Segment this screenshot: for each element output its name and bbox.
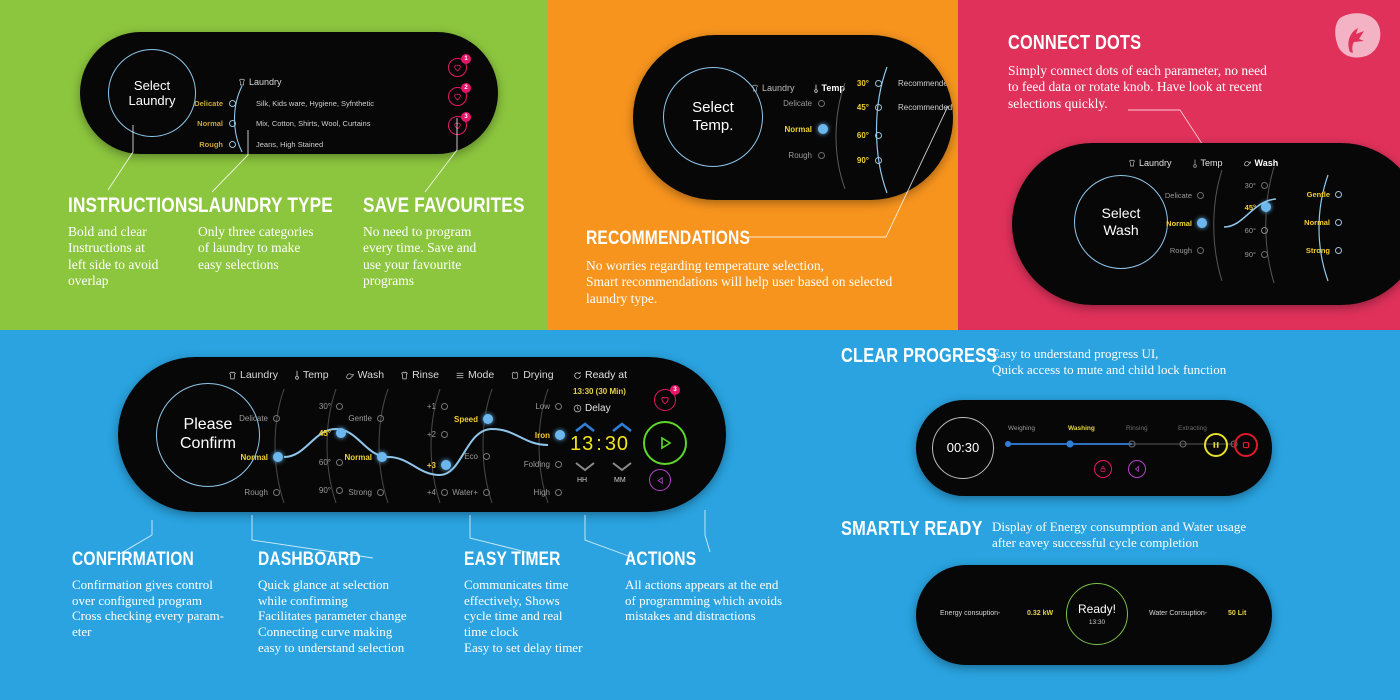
label: Normal xyxy=(226,453,268,462)
play-button[interactable] xyxy=(643,421,687,465)
child-lock-button[interactable] xyxy=(1094,460,1112,478)
dot[interactable] xyxy=(273,452,283,462)
main-temp-30[interactable]: 30° xyxy=(313,402,343,411)
device-ready[interactable]: Energy consuption- 0.32 kW Ready! 13:30 … xyxy=(916,565,1272,665)
label: 90° xyxy=(851,156,869,165)
device-select-temp[interactable]: Laundry Temp Select Temp. Delicate xyxy=(633,35,953,200)
label: Folding xyxy=(518,460,550,469)
label: +2 xyxy=(418,430,436,439)
main-mode-eco[interactable]: Eco xyxy=(440,452,490,461)
rinse-icon xyxy=(400,371,409,380)
label: Normal xyxy=(336,453,372,462)
main-wash-normal[interactable]: Normal xyxy=(336,452,387,462)
progress-step-2-label: Rinsing xyxy=(1126,425,1148,432)
label: Delicate xyxy=(1152,191,1192,200)
label: +1 xyxy=(418,402,436,411)
caption-actions-head: ACTIONS xyxy=(625,549,773,571)
main-wash-gentle[interactable]: Gentle xyxy=(336,414,384,423)
dot[interactable] xyxy=(1335,191,1342,198)
wash-option-strong[interactable]: Strong xyxy=(1296,246,1342,255)
refresh-icon xyxy=(573,371,582,380)
stop-button[interactable] xyxy=(1234,433,1258,457)
label: Water+ xyxy=(440,488,478,497)
ready-at-value: 13:30 (30 Min) xyxy=(573,387,626,396)
label: 60° xyxy=(851,131,869,140)
main-mode-speed[interactable]: Speed xyxy=(440,414,493,424)
caption-dashboard: DASHBOARD Quick glance at selection whil… xyxy=(258,549,438,656)
ready-text: Ready! xyxy=(1078,602,1116,616)
knob-line-1: Select xyxy=(692,99,734,117)
label: Eco xyxy=(440,452,478,461)
thermometer-icon xyxy=(813,84,819,93)
dot[interactable] xyxy=(336,403,343,410)
water-label: Water Consuption- xyxy=(1149,610,1207,617)
temp-option-30[interactable]: 30° Recommended xyxy=(851,79,952,88)
nav-item-drying[interactable]: Drying xyxy=(510,369,553,381)
caption-smartly-ready-body: Display of Energy consumption and Water … xyxy=(992,519,1302,550)
delay-hh: 13 xyxy=(570,433,594,455)
delay-sep: : xyxy=(594,433,605,455)
infographic-root: Laundry Select Laundry Delicate Silk, Ki… xyxy=(0,0,1400,700)
label: 60° xyxy=(313,458,331,467)
caption-save-favourites-head: SAVE FAVOURITES xyxy=(363,194,486,218)
hh-up-arrow-icon[interactable] xyxy=(574,421,596,433)
delay-mm: 30 xyxy=(605,433,629,455)
main-rinse-3[interactable]: +3 xyxy=(418,460,451,470)
laundry-row-2-dot[interactable] xyxy=(229,141,236,148)
progress-step-1-label: Washing xyxy=(1068,425,1095,432)
label: 45° xyxy=(313,429,331,438)
label: +4 xyxy=(418,488,436,497)
favourite-slot-1[interactable]: 1 xyxy=(448,58,467,77)
caption-save-favourites-body: No need to program every time. Save and … xyxy=(363,224,513,289)
label: 30° xyxy=(851,79,869,88)
dot[interactable] xyxy=(1335,247,1342,254)
main-wash-strong[interactable]: Strong xyxy=(336,488,384,497)
main-mode-waterplus[interactable]: Water+ xyxy=(440,488,490,497)
hand-wash-icon xyxy=(345,371,355,380)
label: Speed xyxy=(440,415,478,424)
nav-label-wash: Wash xyxy=(358,369,384,381)
dot[interactable] xyxy=(377,415,384,422)
laundry-row-0-dot[interactable] xyxy=(229,100,236,107)
caption-connect-dots-body: Simply connect dots of each parameter, n… xyxy=(1008,63,1308,112)
caption-easy-timer-head: EASY TIMER xyxy=(464,549,587,571)
label: Low xyxy=(518,402,550,411)
label: Gentle xyxy=(1296,190,1330,199)
nav-item-rinse[interactable]: Rinse xyxy=(400,369,439,381)
dot[interactable] xyxy=(875,157,882,164)
favourite-badge-1: 1 xyxy=(461,54,471,64)
dot[interactable] xyxy=(818,152,825,159)
nav-label-laundry: Laundry xyxy=(762,83,795,93)
main-laundry-rough[interactable]: Rough xyxy=(226,488,280,497)
nav-item-laundry[interactable]: Laundry xyxy=(751,83,795,93)
caption-recommendations-head: RECOMMENDATIONS xyxy=(586,228,881,250)
label: High xyxy=(518,488,550,497)
favourite-badge: 3 xyxy=(670,385,680,395)
dot[interactable] xyxy=(273,415,280,422)
hand-wash-icon xyxy=(1243,159,1252,167)
temp-option-45[interactable]: 45° Recommended xyxy=(851,103,952,112)
wash-option-normal[interactable]: Normal xyxy=(1296,218,1342,227)
caption-instructions-body: Bold and clear Instructions at left side… xyxy=(68,224,198,289)
laundry-row-2-desc: Jeans, High Stained xyxy=(256,140,323,149)
label: Delicate xyxy=(226,414,268,423)
knob-line-2: Laundry xyxy=(129,93,176,108)
delay-mm-caption: MM xyxy=(614,477,626,484)
connect-curve xyxy=(1222,191,1284,239)
temp-laundry-normal[interactable]: Normal xyxy=(770,124,828,134)
pause-icon xyxy=(1211,440,1221,450)
laundry-arc xyxy=(829,81,853,191)
wash-option-gentle[interactable]: Gentle xyxy=(1296,190,1342,199)
mm-up-arrow-icon[interactable] xyxy=(611,421,633,433)
caption-confirmation: CONFIRMATION Confirmation gives control … xyxy=(72,549,237,640)
dot[interactable] xyxy=(1197,192,1204,199)
dot[interactable] xyxy=(555,489,562,496)
label: Rough xyxy=(770,151,812,160)
heart-icon xyxy=(453,63,462,72)
nav-item-laundry[interactable]: Laundry xyxy=(228,369,278,381)
mute-button[interactable] xyxy=(1128,460,1146,478)
dot[interactable] xyxy=(441,460,451,470)
caption-confirmation-head: CONFIRMATION xyxy=(72,549,207,571)
nav-label-temp: Temp xyxy=(303,369,329,381)
dot[interactable] xyxy=(483,489,490,496)
ready-at-row: Ready at xyxy=(573,369,627,381)
clock-icon xyxy=(573,404,582,413)
nav-label-drying: Drying xyxy=(523,369,553,381)
nav-label-temp: Temp xyxy=(1201,158,1223,168)
nav-item-mode[interactable]: Mode xyxy=(455,369,494,381)
shirt-icon xyxy=(228,371,237,380)
caption-dashboard-body: Quick glance at selection while confirmi… xyxy=(258,577,438,656)
nav-item-wash[interactable]: Wash xyxy=(345,369,384,381)
dot[interactable] xyxy=(875,104,882,111)
back-icon xyxy=(656,476,665,485)
dot[interactable] xyxy=(483,414,493,424)
water-value: 50 Lit xyxy=(1228,610,1246,617)
caption-confirmation-body: Confirmation gives control over configur… xyxy=(72,577,237,640)
dot[interactable] xyxy=(441,431,448,438)
laundry-row-1-dot[interactable] xyxy=(229,120,236,127)
dot[interactable] xyxy=(483,453,490,460)
dot[interactable] xyxy=(818,124,828,134)
laundry-row-1[interactable]: Normal Mix, Cotton, Shirts, Wool, Curtai… xyxy=(185,119,370,128)
dot[interactable] xyxy=(273,489,280,496)
dot[interactable] xyxy=(555,461,562,468)
temp-laundry-delicate[interactable]: Delicate xyxy=(770,99,825,108)
favourite-slot-2[interactable]: 2 xyxy=(448,87,467,106)
main-drying-high[interactable]: High xyxy=(518,488,562,497)
knob-select-laundry[interactable]: Select Laundry xyxy=(108,49,196,137)
delay-row: Delay xyxy=(573,403,611,414)
wash-laundry-rough[interactable]: Rough xyxy=(1152,246,1204,255)
child-lock-icon xyxy=(1099,465,1107,473)
label: Delicate xyxy=(770,99,812,108)
main-rinse-1[interactable]: +1 xyxy=(418,402,448,411)
knob-select-temp[interactable]: Select Temp. xyxy=(663,67,763,167)
ready-knob[interactable]: Ready! 13:30 xyxy=(1066,583,1128,645)
main-rinse-2[interactable]: +2 xyxy=(418,430,448,439)
main-temp-45[interactable]: 45° xyxy=(313,428,346,438)
label: 30° xyxy=(313,402,331,411)
label: 90° xyxy=(313,486,331,495)
main-laundry-normal[interactable]: Normal xyxy=(226,452,283,462)
nav-label-laundry: Laundry xyxy=(1139,158,1172,168)
heart-icon xyxy=(660,395,670,405)
note: Recommended xyxy=(898,79,952,88)
caption-recommendations: RECOMMENDATIONS No worries regarding tem… xyxy=(586,228,946,307)
temp-option-90[interactable]: 90° xyxy=(851,156,882,165)
thermometer-icon xyxy=(1192,159,1198,168)
caption-instructions: INSTRUCTIONS Bold and clear Instructions… xyxy=(68,194,198,289)
progress-step-3-label: Extracting xyxy=(1178,425,1207,432)
progress-timer-knob[interactable]: 00:30 xyxy=(932,417,994,479)
knob-line-1: Select xyxy=(129,78,176,93)
caption-smartly-ready: SMARTLY READY xyxy=(841,518,1014,541)
main-drying-low[interactable]: Low xyxy=(518,402,562,411)
caption-easy-timer-body: Communicates time effectively, Shows cyc… xyxy=(464,577,614,656)
knob-line-2: Temp. xyxy=(692,117,734,135)
dot[interactable] xyxy=(1261,182,1268,189)
caption-instructions-head: INSTRUCTIONS xyxy=(68,194,175,218)
favourite-badge-3: 3 xyxy=(461,112,471,122)
caption-smartly-ready-head: SMARTLY READY xyxy=(841,518,983,541)
nav-item-temp[interactable]: Temp xyxy=(1192,158,1223,168)
caption-clear-progress-head: CLEAR PROGRESS xyxy=(841,345,997,368)
dot[interactable] xyxy=(555,403,562,410)
dot[interactable] xyxy=(555,430,565,440)
pause-button[interactable] xyxy=(1204,433,1228,457)
progress-node-0 xyxy=(1005,441,1011,447)
favourite-button[interactable]: 3 xyxy=(654,389,676,411)
label: Rough xyxy=(1152,246,1192,255)
ready-time: 13:30 xyxy=(1078,619,1116,627)
caption-actions-body: All actions appears at the end of progra… xyxy=(625,577,805,624)
knob-please-confirm[interactable]: Please Confirm xyxy=(156,383,260,487)
menu-icon xyxy=(455,371,465,380)
ready-at-label: Ready at xyxy=(585,369,627,381)
label: 90° xyxy=(1240,250,1256,259)
label: Rough xyxy=(226,488,268,497)
label: 30° xyxy=(1240,181,1256,190)
label: Strong xyxy=(336,488,372,497)
main-drying-folding[interactable]: Folding xyxy=(518,460,562,469)
back-button[interactable] xyxy=(649,469,671,491)
caption-recommendations-body: No worries regarding temperature selecti… xyxy=(586,258,946,307)
temp-option-60[interactable]: 60° xyxy=(851,131,882,140)
favourite-slot-3[interactable]: 3 xyxy=(448,116,467,135)
dot[interactable] xyxy=(875,80,882,87)
caption-connect-dots: CONNECT DOTS Simply connect dots of each… xyxy=(1008,32,1308,112)
nav-label-laundry: Laundry xyxy=(240,369,278,381)
label: +3 xyxy=(418,461,436,470)
energy-label: Energy consuption- xyxy=(940,610,1000,617)
laundry-row-0-desc: Silk, Kids ware, Hygiene, Syfnthetic xyxy=(256,99,374,108)
caption-easy-timer: EASY TIMER Communicates time effectively… xyxy=(464,549,614,656)
brand-logo xyxy=(1326,8,1388,66)
thermometer-icon xyxy=(294,370,300,380)
device-nav: Laundry Temp Wash xyxy=(1128,158,1278,168)
label: Normal xyxy=(1152,219,1192,228)
caption-connect-dots-head: CONNECT DOTS xyxy=(1008,32,1254,55)
label: Normal xyxy=(1296,218,1330,227)
nav-label-rinse: Rinse xyxy=(412,369,439,381)
device-progress[interactable]: 00:30 Weighing Washing Rinsing Extractin… xyxy=(916,400,1272,496)
wash-laundry-delicate[interactable]: Delicate xyxy=(1152,191,1204,200)
nav-item-temp[interactable]: Temp xyxy=(294,369,329,381)
label: Iron xyxy=(518,431,550,440)
laundry-row-2[interactable]: Rough Jeans, High Stained xyxy=(185,140,323,149)
wash-temp-90[interactable]: 90° xyxy=(1240,250,1268,259)
hh-down-arrow-icon[interactable] xyxy=(574,461,596,473)
label: Strong xyxy=(1296,246,1330,255)
progress-node-1 xyxy=(1066,440,1073,447)
delay-time-display[interactable]: 13:30 xyxy=(570,433,629,456)
dot[interactable] xyxy=(1197,218,1207,228)
play-icon xyxy=(657,435,673,451)
device-nav: Laundry Temp Wash Rinse Mode xyxy=(228,369,554,381)
device-select-laundry[interactable]: Laundry Select Laundry Delicate Silk, Ki… xyxy=(80,32,498,154)
device-please-confirm[interactable]: Laundry Temp Wash Rinse Mode xyxy=(118,357,726,512)
dot[interactable] xyxy=(818,100,825,107)
caption-laundry-type-head: LAUNDRY TYPE xyxy=(198,194,313,218)
laundry-row-1-label: Normal xyxy=(185,119,223,128)
caption-dashboard-head: DASHBOARD xyxy=(258,549,406,571)
shirt-icon xyxy=(1128,159,1136,167)
main-laundry-delicate[interactable]: Delicate xyxy=(226,414,280,423)
caption-clear-progress-body: Easy to understand progress UI, Quick ac… xyxy=(992,346,1292,377)
dot[interactable] xyxy=(1335,219,1342,226)
dot[interactable] xyxy=(377,489,384,496)
energy-value: 0.32 kW xyxy=(1027,610,1053,617)
laundry-row-0[interactable]: Delicate Silk, Kids ware, Hygiene, Syfnt… xyxy=(185,99,374,108)
drying-icon xyxy=(510,371,520,380)
stop-icon xyxy=(1241,440,1251,450)
label: Normal xyxy=(770,125,812,134)
laundry-row-2-label: Rough xyxy=(185,140,223,149)
mm-down-arrow-icon[interactable] xyxy=(611,461,633,473)
dot[interactable] xyxy=(336,428,346,438)
wash-temp-30[interactable]: 30° xyxy=(1240,181,1268,190)
note: Recommended xyxy=(898,103,952,112)
caption-laundry-type-body: Only three categories of laundry to make… xyxy=(198,224,338,273)
nav-label-mode: Mode xyxy=(468,369,494,381)
caption-save-favourites: SAVE FAVOURITES No need to program every… xyxy=(363,194,513,289)
main-drying-iron[interactable]: Iron xyxy=(518,430,565,440)
knob-line-2: Wash xyxy=(1102,222,1141,239)
dot[interactable] xyxy=(1261,251,1268,258)
nav-item-laundry[interactable]: Laundry xyxy=(1128,158,1172,168)
heart-icon xyxy=(453,121,462,130)
label: Gentle xyxy=(336,414,372,423)
progress-timer-value: 00:30 xyxy=(947,440,980,455)
delay-hh-caption: HH xyxy=(577,477,587,484)
dot[interactable] xyxy=(1197,247,1204,254)
dot[interactable] xyxy=(441,403,448,410)
knob-line-1: Select xyxy=(1102,205,1141,222)
delay-label: Delay xyxy=(585,403,611,414)
caption-laundry-type: LAUNDRY TYPE Only three categories of la… xyxy=(198,194,338,273)
device-select-wash[interactable]: Laundry Temp Wash Select Wash xyxy=(1012,143,1400,305)
dot[interactable] xyxy=(377,452,387,462)
temp-laundry-rough[interactable]: Rough xyxy=(770,151,825,160)
laundry-row-1-desc: Mix, Cotton, Shirts, Wool, Curtains xyxy=(256,119,370,128)
progress-step-0-label: Weighing xyxy=(1008,425,1035,432)
wash-laundry-normal[interactable]: Normal xyxy=(1152,218,1207,228)
mute-icon xyxy=(1133,465,1141,473)
dot[interactable] xyxy=(875,132,882,139)
laundry-row-0-label: Delicate xyxy=(185,99,223,108)
caption-actions: ACTIONS All actions appears at the end o… xyxy=(625,549,805,624)
favourite-badge-2: 2 xyxy=(461,83,471,93)
label: 45° xyxy=(851,103,869,112)
heart-icon xyxy=(453,92,462,101)
